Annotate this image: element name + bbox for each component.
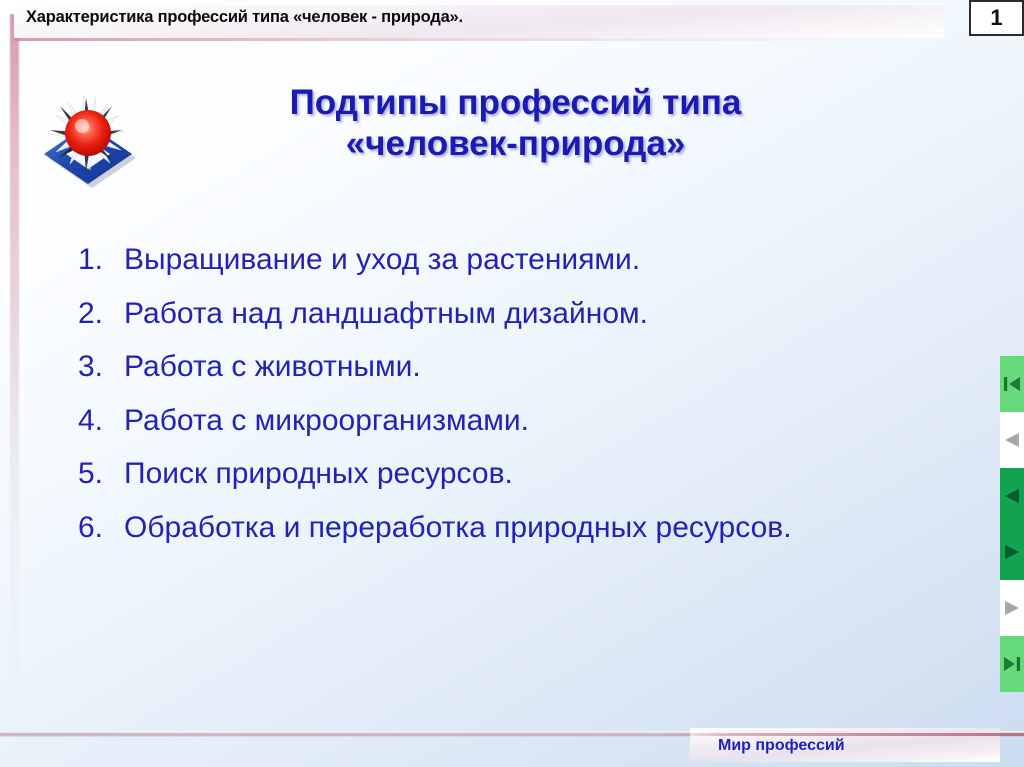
- list-item-number: 2.: [78, 296, 124, 333]
- slide-navigation-bar: [1000, 356, 1024, 692]
- footer-accent-line: [660, 733, 1024, 736]
- presentation-slide: Характеристика профессий типа «человек -…: [0, 0, 1024, 767]
- list-item: 1. Выращивание и уход за растениями.: [78, 242, 958, 279]
- list-item-number: 5.: [78, 456, 124, 493]
- list-item-text: Работа с животными.: [124, 349, 958, 386]
- page-number: 1: [990, 7, 1002, 29]
- last-slide-button[interactable]: [1000, 636, 1024, 692]
- next-slide-button[interactable]: [1000, 580, 1024, 636]
- first-slide-button[interactable]: [1000, 356, 1024, 412]
- list-item-text: Выращивание и уход за растениями.: [124, 242, 958, 279]
- slide-title-row: Подтипы профессий типа «человек-природа»: [26, 78, 886, 196]
- list-item: 5. Поиск природных ресурсов.: [78, 456, 958, 493]
- back-button[interactable]: [1000, 468, 1024, 524]
- frame-left-accent: [10, 18, 19, 718]
- subtypes-list: 1. Выращивание и уход за растениями. 2. …: [78, 242, 958, 564]
- list-item: 2. Работа над ландшафтным дизайном.: [78, 296, 958, 333]
- previous-icon: [1002, 487, 1022, 505]
- blue-diamond-red-starburst-icon: [26, 84, 151, 196]
- slide-title-line-2: «человек-природа»: [151, 123, 880, 164]
- frame-left-highlight: [21, 20, 24, 726]
- list-item: 4. Работа с микроорганизмами.: [78, 403, 958, 440]
- list-item-number: 4.: [78, 403, 124, 440]
- previous-slide-button[interactable]: [1000, 412, 1024, 468]
- slide-body: Подтипы профессий типа «человек-природа»…: [26, 46, 986, 734]
- next-icon: [1002, 543, 1022, 561]
- list-item-number: 6.: [78, 510, 124, 547]
- list-item: 3. Работа с животными.: [78, 349, 958, 386]
- list-item-number: 1.: [78, 242, 124, 279]
- last-icon: [1002, 655, 1022, 673]
- forward-button[interactable]: [1000, 524, 1024, 580]
- list-item-text: Работа над ландшафтным дизайном.: [124, 296, 958, 333]
- list-item-text: Работа с микроорганизмами.: [124, 403, 958, 440]
- list-item-number: 3.: [78, 349, 124, 386]
- list-item-text: Обработка и переработка природных ресурс…: [124, 510, 958, 547]
- first-icon: [1002, 375, 1022, 393]
- header-title: Характеристика профессий типа «человек -…: [26, 8, 463, 27]
- footer-label: Мир профессий: [718, 737, 845, 755]
- previous-icon: [1002, 431, 1022, 449]
- slide-title: Подтипы профессий типа «человек-природа»: [151, 78, 886, 165]
- page-number-box: 1: [969, 0, 1024, 36]
- list-item: 6. Обработка и переработка природных рес…: [78, 510, 958, 547]
- next-icon: [1002, 599, 1022, 617]
- list-item-text: Поиск природных ресурсов.: [124, 456, 958, 493]
- slide-title-line-1: Подтипы профессий типа: [151, 82, 880, 123]
